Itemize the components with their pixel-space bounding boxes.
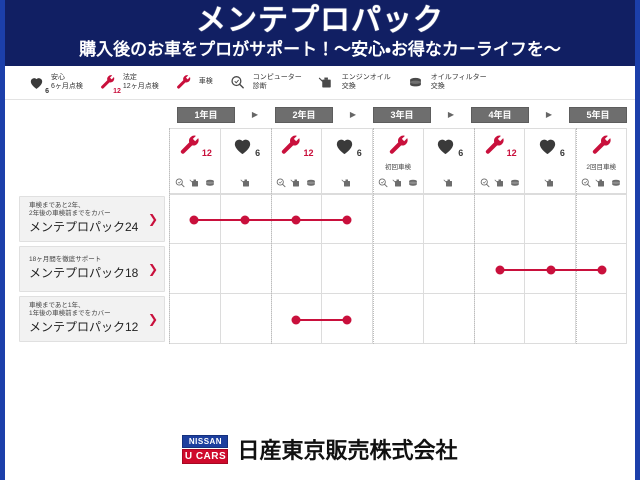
sub-icon-group bbox=[272, 175, 322, 191]
wrench-icon: 12 bbox=[97, 72, 119, 94]
icon-header-row: 126126初回車検61262回目車検 bbox=[13, 128, 627, 194]
sub-icon-group bbox=[373, 175, 423, 191]
year-arrow-icon: ▶ bbox=[333, 110, 373, 119]
service-caption bbox=[525, 163, 575, 172]
service-caption bbox=[221, 163, 271, 172]
oil-filter-icon bbox=[204, 177, 216, 189]
package-cell bbox=[169, 294, 220, 344]
wrench-icon: 12 bbox=[178, 133, 212, 159]
package-cell bbox=[524, 294, 575, 344]
service-badge: 6 bbox=[357, 148, 362, 159]
oil-can-icon bbox=[595, 177, 607, 189]
oil-can-icon bbox=[494, 177, 506, 189]
package-label-3[interactable]: 車検まであと1年、1年後の車検前までをカバーメンテプロパック12❯ bbox=[19, 296, 165, 342]
package-sub1: 車検まであと2年、 bbox=[29, 202, 138, 210]
package-sub1: 18ヶ月間を徹底サポート bbox=[29, 256, 138, 264]
nissan-ucars-logo: NISSAN U CARS bbox=[182, 435, 228, 464]
oil-filter-icon bbox=[509, 177, 521, 189]
service-caption bbox=[170, 163, 220, 172]
nissan-logo-text: NISSAN bbox=[182, 435, 228, 448]
sub-icon-group bbox=[322, 175, 372, 191]
package-rows: 車検まであと2年、2年後の車検前までをカバーメンテプロパック24❯18ヶ月間を徹… bbox=[13, 194, 627, 344]
legend-item-2: 12法定12ヶ月点検 bbox=[97, 72, 159, 94]
service-column-2: 6 bbox=[220, 128, 271, 194]
ucars-logo-text: U CARS bbox=[182, 449, 228, 464]
service-badge: 12 bbox=[507, 148, 517, 159]
maintenance-grid: 126126初回車検61262回目車検 車検まであと2年、2年後の車検前までをカ… bbox=[13, 128, 627, 344]
service-caption bbox=[424, 163, 474, 172]
legend-badge: 12 bbox=[113, 88, 121, 95]
magnifier-icon bbox=[227, 72, 249, 94]
service-column-7: 12 bbox=[474, 128, 525, 194]
package-cell bbox=[474, 244, 525, 294]
package-cell bbox=[423, 294, 474, 344]
wrench-icon: 12 bbox=[279, 133, 313, 159]
package-cell bbox=[423, 194, 474, 244]
service-column-6: 6 bbox=[423, 128, 474, 194]
package-sub1: 車検まであと1年、 bbox=[29, 302, 138, 310]
page-title: メンテプロパック bbox=[5, 4, 635, 38]
oil-filter-icon bbox=[405, 72, 427, 94]
package-cell bbox=[220, 194, 271, 244]
package-label-2[interactable]: 18ヶ月間を徹底サポートメンテプロパック18❯ bbox=[19, 246, 165, 292]
oil-can-icon bbox=[316, 72, 338, 94]
service-caption: 初回車検 bbox=[373, 163, 423, 172]
legend-bar: 6安心6ヶ月点検12法定12ヶ月点検車検コンピューター診断エンジンオイル交換オイ… bbox=[5, 66, 635, 100]
legend-label: 法定12ヶ月点検 bbox=[123, 74, 159, 92]
icon-cells: 126126初回車検61262回目車検 bbox=[169, 128, 627, 194]
package-cell bbox=[575, 244, 626, 294]
service-caption bbox=[272, 163, 322, 172]
package-cell bbox=[474, 194, 525, 244]
legend-label: コンピューター診断 bbox=[253, 74, 302, 92]
service-badge: 6 bbox=[458, 148, 463, 159]
service-column-1: 12 bbox=[169, 128, 220, 194]
service-column-5: 初回車検 bbox=[372, 128, 423, 194]
promo-page: メンテプロパック 購入後のお車をプロがサポート！～安心・お得なカーライフを～ 6… bbox=[0, 0, 640, 480]
heart-icon: 6 bbox=[231, 133, 260, 159]
service-badge: 6 bbox=[255, 148, 260, 159]
year-arrow-icon: ▶ bbox=[431, 110, 471, 119]
package-cell bbox=[271, 244, 322, 294]
chevron-right-icon[interactable]: ❯ bbox=[148, 313, 158, 325]
service-badge: 6 bbox=[560, 148, 565, 159]
package-text: 18ヶ月間を徹底サポートメンテプロパック18 bbox=[29, 256, 138, 282]
year-header-row: 1年目▶2年目▶3年目▶4年目▶5年目 bbox=[177, 106, 627, 124]
package-cell bbox=[423, 244, 474, 294]
page-footer: NISSAN U CARS 日産東京販売株式会社 bbox=[5, 418, 635, 480]
legend-label: オイルフィルター交換 bbox=[431, 74, 487, 92]
package-text: 車検まであと2年、2年後の車検前までをカバーメンテプロパック24 bbox=[29, 202, 138, 236]
oil-can-icon bbox=[240, 177, 252, 189]
heart-icon: 6 bbox=[536, 133, 565, 159]
oil-can-icon bbox=[392, 177, 404, 189]
package-row-2[interactable]: 18ヶ月間を徹底サポートメンテプロパック18❯ bbox=[13, 244, 627, 294]
icon-row-spacer bbox=[13, 128, 169, 194]
package-cell bbox=[575, 194, 626, 244]
sub-icon-group bbox=[475, 175, 525, 191]
legend-label: 安心6ヶ月点検 bbox=[51, 74, 83, 92]
oil-can-icon bbox=[544, 177, 556, 189]
package-label-1[interactable]: 車検まであと2年、2年後の車検前までをカバーメンテプロパック24❯ bbox=[19, 196, 165, 242]
oil-filter-icon bbox=[610, 177, 622, 189]
package-name: メンテプロパック12 bbox=[29, 320, 138, 336]
legend-item-1: 6安心6ヶ月点検 bbox=[25, 72, 83, 94]
package-cell bbox=[321, 244, 372, 294]
sub-icon-group bbox=[170, 175, 220, 191]
wrench-icon bbox=[173, 72, 195, 94]
magnifier-icon bbox=[275, 177, 287, 189]
page-subtitle: 購入後のお車をプロがサポート！～安心・お得なカーライフを～ bbox=[5, 39, 635, 60]
legend-item-5: エンジンオイル交換 bbox=[316, 72, 391, 94]
legend-item-6: オイルフィルター交換 bbox=[405, 72, 487, 94]
oil-can-icon bbox=[189, 177, 201, 189]
service-caption: 2回目車検 bbox=[576, 163, 626, 172]
magnifier-icon bbox=[377, 177, 389, 189]
chevron-right-icon[interactable]: ❯ bbox=[148, 213, 158, 225]
oil-can-icon bbox=[443, 177, 455, 189]
package-cells-2 bbox=[169, 244, 627, 294]
package-cell bbox=[524, 244, 575, 294]
legend-item-3: 車検 bbox=[173, 72, 213, 94]
package-cell bbox=[321, 194, 372, 244]
package-name: メンテプロパック18 bbox=[29, 266, 138, 282]
wrench-icon bbox=[590, 133, 613, 159]
package-cell bbox=[321, 294, 372, 344]
heart-icon: 6 bbox=[333, 133, 362, 159]
sub-icon-group bbox=[576, 175, 626, 191]
oil-filter-icon bbox=[407, 177, 419, 189]
package-cell bbox=[271, 294, 322, 344]
package-cell bbox=[220, 244, 271, 294]
package-cell bbox=[474, 294, 525, 344]
package-cells-1 bbox=[169, 194, 627, 244]
legend-badge: 6 bbox=[45, 88, 49, 95]
year-label-4: 4年目 bbox=[471, 107, 529, 123]
package-cell bbox=[372, 244, 423, 294]
package-cell bbox=[169, 244, 220, 294]
wrench-icon bbox=[387, 133, 410, 159]
package-cell bbox=[372, 194, 423, 244]
package-sub2: 2年後の車検前までをカバー bbox=[29, 210, 138, 218]
sub-icon-group bbox=[424, 175, 474, 191]
page-header: メンテプロパック 購入後のお車をプロがサポート！～安心・お得なカーライフを～ bbox=[5, 0, 635, 66]
package-row-3[interactable]: 車検まであと1年、1年後の車検前までをカバーメンテプロパック12❯ bbox=[13, 294, 627, 344]
sub-icon-group bbox=[221, 175, 271, 191]
package-text: 車検まであと1年、1年後の車検前までをカバーメンテプロパック12 bbox=[29, 302, 138, 336]
service-column-8: 6 bbox=[524, 128, 575, 194]
magnifier-icon bbox=[479, 177, 491, 189]
company-name: 日産東京販売株式会社 bbox=[237, 433, 457, 465]
year-arrow-icon: ▶ bbox=[235, 110, 275, 119]
service-column-3: 12 bbox=[271, 128, 322, 194]
service-column-4: 6 bbox=[321, 128, 372, 194]
package-cell bbox=[372, 294, 423, 344]
oil-can-icon bbox=[290, 177, 302, 189]
year-label-2: 2年目 bbox=[275, 107, 333, 123]
wrench-icon: 12 bbox=[483, 133, 517, 159]
package-cell bbox=[575, 294, 626, 344]
chevron-right-icon[interactable]: ❯ bbox=[148, 263, 158, 275]
oil-can-icon bbox=[341, 177, 353, 189]
service-caption bbox=[475, 163, 525, 172]
magnifier-icon bbox=[580, 177, 592, 189]
heart-icon: 6 bbox=[25, 72, 47, 94]
legend-label: エンジンオイル交換 bbox=[342, 74, 391, 92]
service-caption bbox=[322, 163, 372, 172]
legend-label: 車検 bbox=[199, 78, 213, 87]
package-sub2: 1年後の車検前までをカバー bbox=[29, 310, 138, 318]
package-cell bbox=[220, 294, 271, 344]
package-name: メンテプロパック24 bbox=[29, 220, 138, 236]
package-cell bbox=[169, 194, 220, 244]
package-cells-3 bbox=[169, 294, 627, 344]
year-label-1: 1年目 bbox=[177, 107, 235, 123]
magnifier-icon bbox=[174, 177, 186, 189]
package-row-1[interactable]: 車検まであと2年、2年後の車検前までをカバーメンテプロパック24❯ bbox=[13, 194, 627, 244]
heart-icon: 6 bbox=[434, 133, 463, 159]
service-column-9: 2回目車検 bbox=[575, 128, 626, 194]
package-cell bbox=[271, 194, 322, 244]
sub-icon-group bbox=[525, 175, 575, 191]
year-label-5: 5年目 bbox=[569, 107, 627, 123]
year-label-3: 3年目 bbox=[373, 107, 431, 123]
service-badge: 12 bbox=[303, 148, 313, 159]
oil-filter-icon bbox=[305, 177, 317, 189]
package-cell bbox=[524, 194, 575, 244]
year-arrow-icon: ▶ bbox=[529, 110, 569, 119]
service-badge: 12 bbox=[202, 148, 212, 159]
legend-item-4: コンピューター診断 bbox=[227, 72, 302, 94]
